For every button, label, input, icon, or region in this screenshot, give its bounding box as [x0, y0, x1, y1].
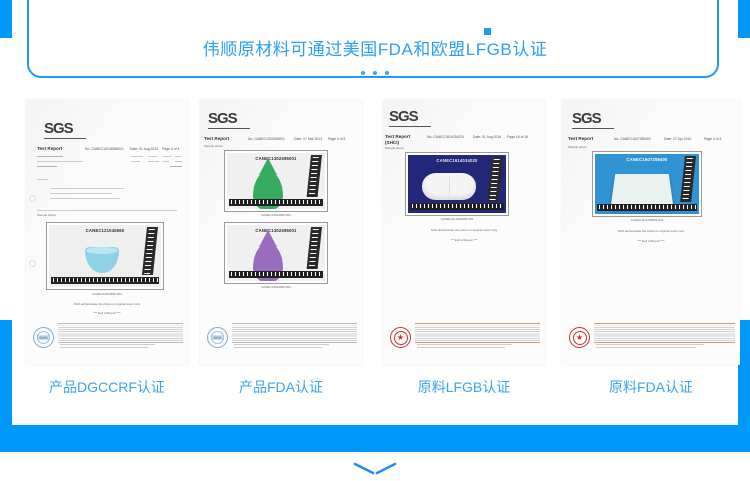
certificate-grid: SGS Test Report No. CANEC12104556001 Dat…	[0, 100, 750, 400]
certificate-caption-4: 原料FDA认证	[562, 377, 740, 397]
decorative-dots	[0, 62, 750, 80]
caption-wrap-3: 原料LFGB认证	[383, 100, 545, 400]
section-subtitle: 伟顺原材料可通过美国FDA和欧盟LFGB认证	[0, 35, 750, 60]
edge-accent-top-left	[0, 0, 12, 38]
caption-wrap-2: 产品FDA认证	[200, 100, 362, 400]
title-accent-dot	[484, 28, 491, 35]
bottom-accent-bar	[0, 425, 750, 452]
certificate-caption-1: 产品DGCCRF认证	[26, 377, 188, 397]
caption-wrap-4: 原料FDA认证	[562, 100, 740, 400]
chevron-down-icon[interactable]	[353, 462, 397, 476]
edge-accent-top-right	[738, 0, 750, 38]
certificate-caption-3: 原料LFGB认证	[383, 377, 545, 397]
certificate-section: 证书资质 伟顺原材料可通过美国FDA和欧盟LFGB认证 SGS Test Rep…	[0, 0, 750, 479]
caption-wrap-1: 产品DGCCRF认证	[26, 100, 188, 400]
certificate-caption-2: 产品FDA认证	[200, 377, 362, 397]
